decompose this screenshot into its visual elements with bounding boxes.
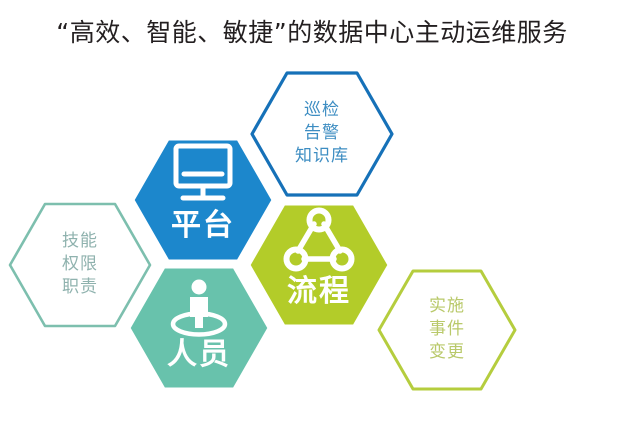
hex-shape-delivery[interactable]: [379, 271, 515, 389]
page-title: “高效、智能、敏捷”的数据中心主动运维服务: [0, 16, 624, 50]
honeycomb-diagram: 技能 权限 职责 巡检 告警 知识库 实施 事件 变更 平台 人员 流程: [0, 58, 624, 431]
hex-shape-inspection[interactable]: [252, 73, 392, 195]
hex-shape-skills[interactable]: [10, 204, 150, 326]
hex-shape-process[interactable]: [249, 204, 389, 326]
honeycomb-shapes: [0, 58, 624, 431]
slide-canvas: “高效、智能、敏捷”的数据中心主动运维服务: [0, 0, 624, 431]
